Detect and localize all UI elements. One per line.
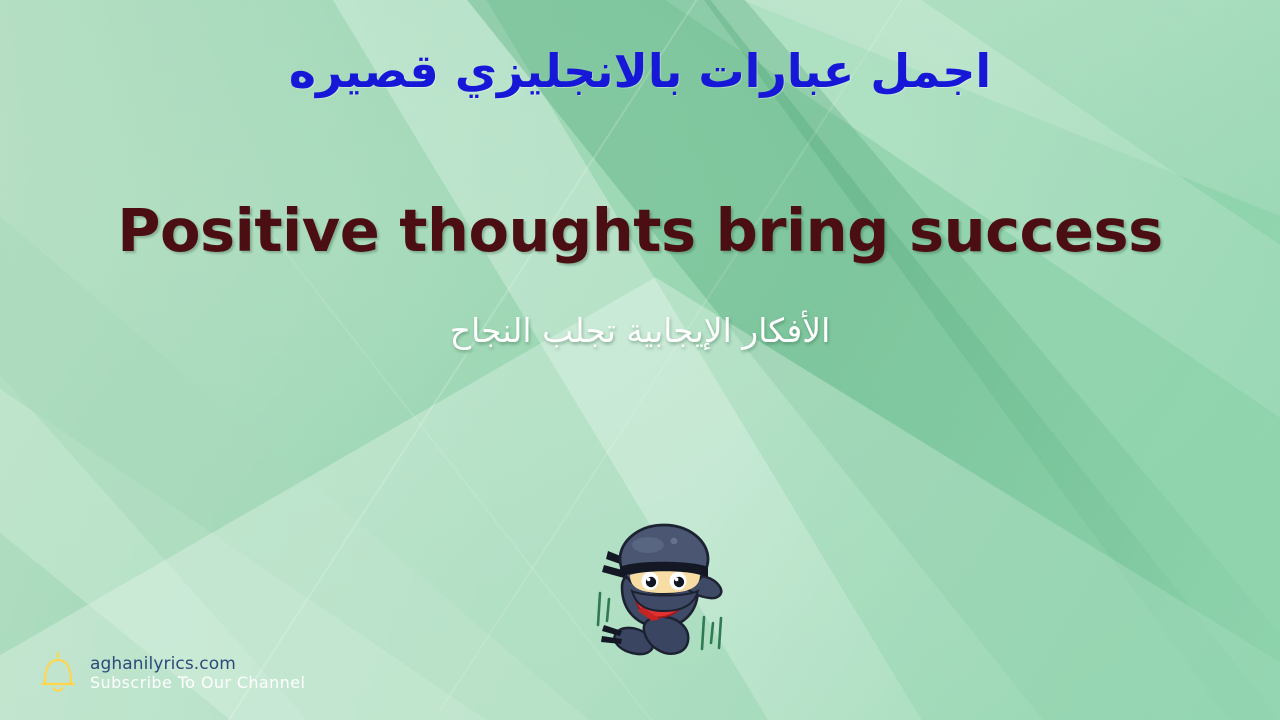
ninja-hood-glint (671, 538, 678, 545)
ninja-hood-highlight (632, 537, 664, 553)
motion-lines-left (598, 593, 609, 625)
ninja-eye-glint-left (647, 578, 651, 582)
ninja-character-icon (582, 515, 742, 680)
branding-text: aghanilyrics.com Subscribe To Our Channe… (90, 654, 305, 693)
branding-block[interactable]: aghanilyrics.com Subscribe To Our Channe… (38, 650, 305, 696)
ninja-eye-glint-right (675, 578, 679, 582)
motion-lines-right (702, 617, 721, 649)
page-title-arabic: اجمل عبارات بالانجليزي قصيره (0, 44, 1280, 98)
content-layer: اجمل عبارات بالانجليزي قصيره Positive th… (0, 0, 1280, 720)
headline-english: Positive thoughts bring success (0, 196, 1280, 265)
branding-cta: Subscribe To Our Channel (90, 674, 305, 693)
ninja-foot-spikes (601, 625, 622, 644)
slide-canvas: اجمل عبارات بالانجليزي قصيره Positive th… (0, 0, 1280, 720)
subtitle-arabic: الأفكار الإيجابية تجلب النجاح (0, 311, 1280, 350)
branding-site-name[interactable]: aghanilyrics.com (90, 654, 305, 674)
bell-icon (38, 650, 78, 696)
